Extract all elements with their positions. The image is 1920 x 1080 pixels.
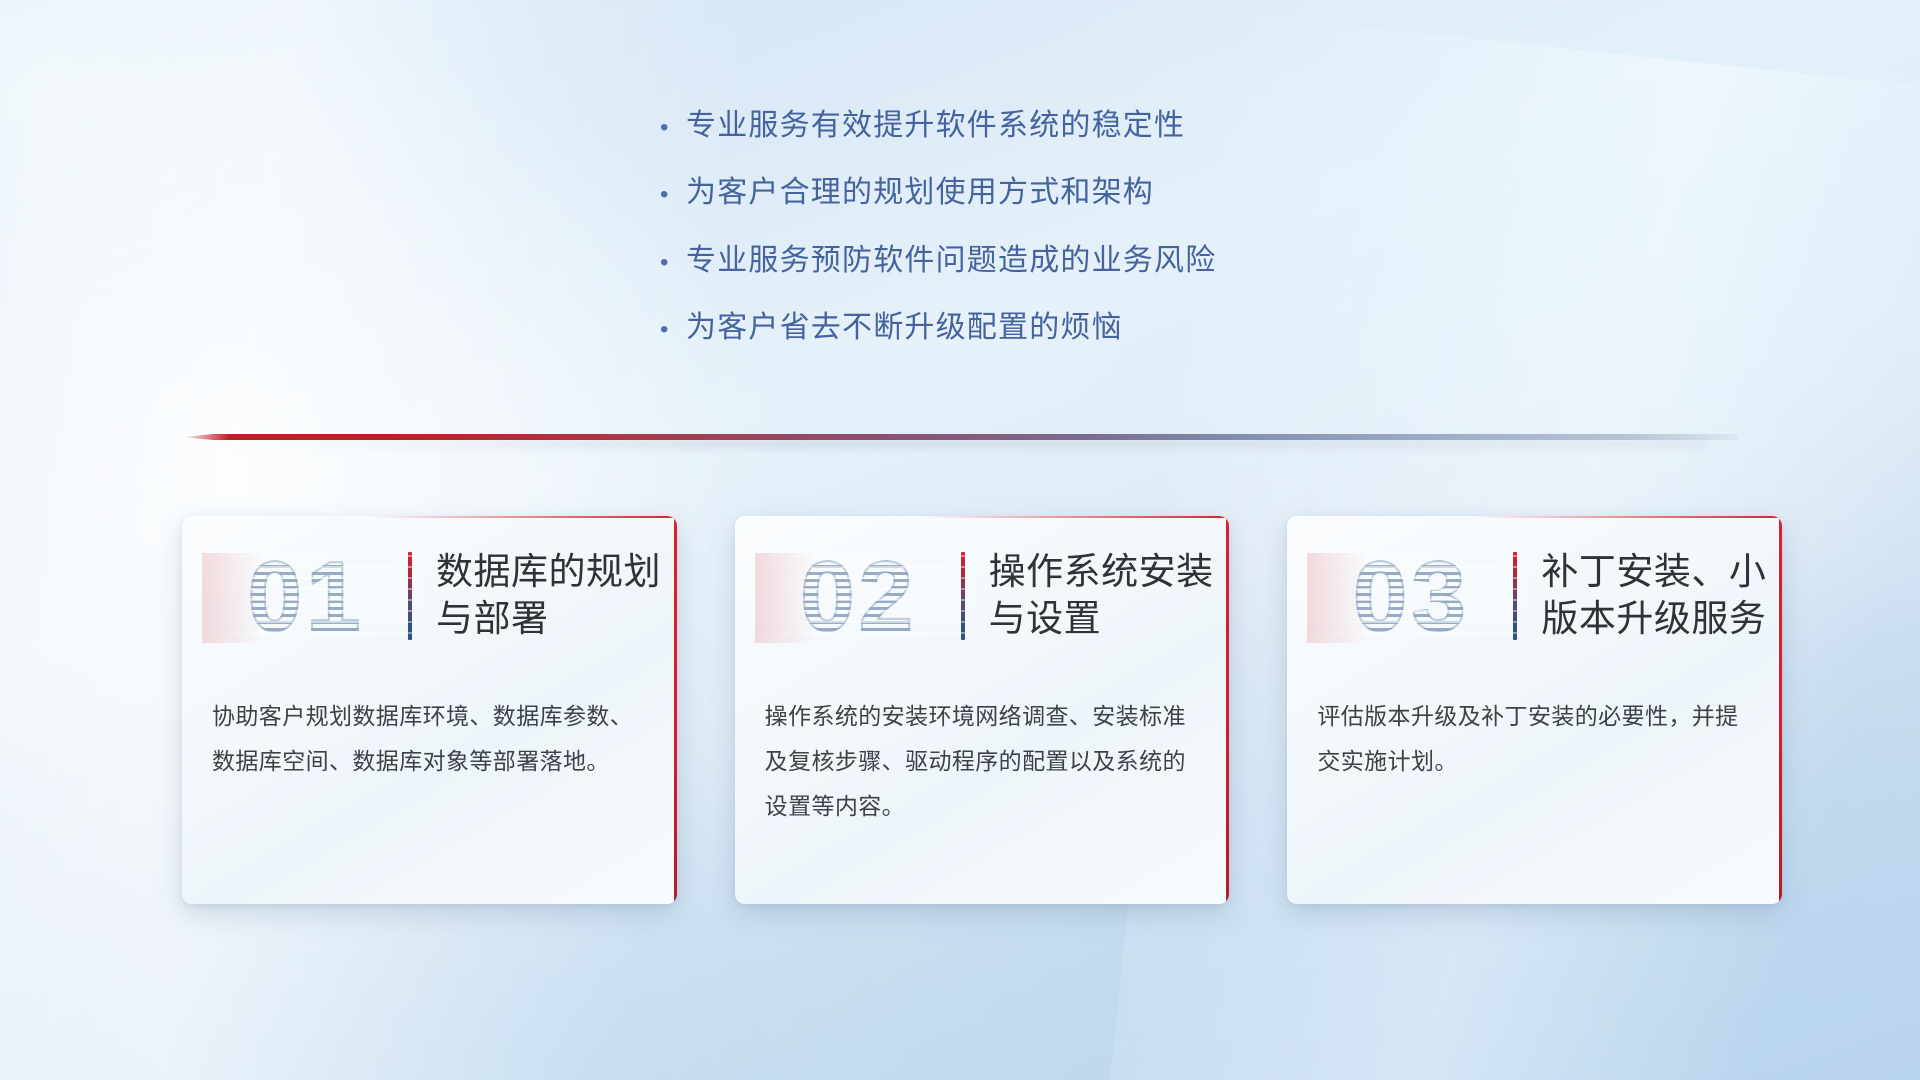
list-item: • 专业服务有效提升软件系统的稳定性 [660,108,1216,143]
card-number-watermark: 01 [208,547,404,645]
service-card-row: 01 数据库的规划与部署 协助客户规划数据库环境、数据库参数、数据库空间、数据库… [182,516,1782,920]
service-card-03[interactable]: 03 补丁安装、小版本升级服务 评估版本升级及补丁安装的必要性，并提交实施计划。 [1287,516,1782,904]
card-title: 操作系统安装与设置 [989,549,1221,642]
bullet-text: 专业服务有效提升软件系统的稳定性 [686,108,1185,143]
card-description: 协助客户规划数据库环境、数据库参数、数据库空间、数据库对象等部署落地。 [182,676,677,784]
card-title-divider [961,552,965,640]
card-description: 操作系统的安装环境网络调查、安装标准及复核步骤、驱动程序的配置以及系统的设置等内… [735,676,1230,829]
bullet-text: 为客户合理的规划使用方式和架构 [686,175,1154,210]
card-title-divider [1513,552,1517,640]
benefits-bullet-list: • 专业服务有效提升软件系统的稳定性 • 为客户合理的规划使用方式和架构 • 专… [660,108,1216,378]
bullet-text: 为客户省去不断升级配置的烦恼 [686,310,1123,345]
slide-canvas: • 专业服务有效提升软件系统的稳定性 • 为客户合理的规划使用方式和架构 • 专… [0,0,1920,1080]
service-card-02[interactable]: 02 操作系统安装与设置 操作系统的安装环境网络调查、安装标准及复核步骤、驱动程… [735,516,1230,904]
list-item: • 专业服务预防软件问题造成的业务风险 [660,243,1216,278]
card-number-watermark: 03 [1313,547,1509,645]
divider-shadow [213,440,1707,448]
bullet-text: 专业服务预防软件问题造成的业务风险 [686,243,1216,278]
card-title: 数据库的规划与部署 [436,549,668,642]
bullet-dot-icon: • [660,183,686,207]
section-divider [182,428,1738,450]
card-title: 补丁安装、小版本升级服务 [1541,549,1773,642]
card-number-watermark: 02 [761,547,957,645]
service-card-01[interactable]: 01 数据库的规划与部署 协助客户规划数据库环境、数据库参数、数据库空间、数据库… [182,516,677,904]
bullet-dot-icon: • [660,318,686,342]
card-header: 03 补丁安装、小版本升级服务 [1287,516,1782,676]
card-header: 02 操作系统安装与设置 [735,516,1230,676]
list-item: • 为客户合理的规划使用方式和架构 [660,175,1216,210]
card-title-divider [408,552,412,640]
card-header: 01 数据库的规划与部署 [182,516,677,676]
card-description: 评估版本升级及补丁安装的必要性，并提交实施计划。 [1287,676,1782,784]
list-item: • 为客户省去不断升级配置的烦恼 [660,310,1216,345]
bullet-dot-icon: • [660,116,686,140]
divider-line [182,434,1738,440]
bullet-dot-icon: • [660,251,686,275]
